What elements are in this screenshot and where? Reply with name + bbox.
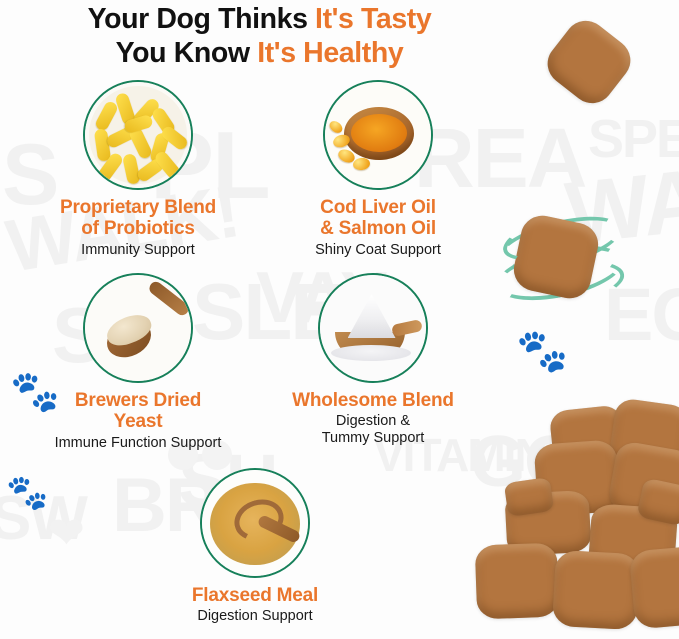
headline-line-2-black: You Know (116, 37, 258, 69)
wooden-spoon-yeast-icon (85, 275, 191, 381)
feature-title: Brewers Dried Yeast (22, 390, 254, 433)
feature-title-line-2: Yeast (22, 411, 254, 432)
feature-title: Wholesome Blend (257, 390, 489, 411)
feature-subtitle: Digestion Support (139, 608, 371, 625)
feature-title: Proprietary Blend of Probiotics (22, 197, 254, 240)
feature-icon-circle (200, 468, 310, 578)
feature-item-flaxseed-meal[interactable]: Flaxseed Meal Digestion Support (139, 468, 371, 625)
feature-title-line-2: & Salmon Oil (262, 218, 494, 239)
feature-title-line-1: Proprietary Blend (22, 197, 254, 218)
feature-item-probiotics[interactable]: Proprietary Blend of Probiotics Immunity… (22, 80, 254, 259)
product-infographic: S WALK! PL REA SPE WAL SLE VAY EG SIT SH… (0, 0, 679, 639)
feature-title-line-1: Brewers Dried (22, 390, 254, 411)
feature-item-fish-oil[interactable]: Cod Liver Oil & Salmon Oil Shiny Coat Su… (262, 80, 494, 259)
feature-item-brewers-yeast[interactable]: Brewers Dried Yeast Immune Function Supp… (22, 273, 254, 452)
feature-subtitle: Shiny Coat Support (262, 242, 494, 259)
feature-title: Flaxseed Meal (139, 585, 371, 606)
headline-line-1-accent: It's Tasty (315, 3, 431, 35)
feature-icon-circle (318, 273, 428, 383)
headline-line-2-accent: It's Healthy (257, 37, 403, 69)
feature-icon-circle (83, 80, 193, 190)
feature-subtitle: Immune Function Support (22, 435, 254, 452)
feature-list: Proprietary Blend of Probiotics Immunity… (0, 0, 679, 639)
flaxseed-meal-spoon-icon (202, 470, 308, 576)
feature-title-line-1: Cod Liver Oil (262, 197, 494, 218)
feature-subtitle: Immunity Support (22, 242, 254, 259)
fish-oil-capsules-bowl-icon (325, 82, 431, 188)
feature-title-line-1: Wholesome Blend (257, 390, 489, 411)
feature-title-line-1: Flaxseed Meal (139, 585, 371, 606)
headline-line-1-black: Your Dog Thinks (88, 3, 315, 35)
headline-line-2: You Know It's Healthy (0, 36, 519, 70)
wooden-spoon-white-powder-icon (320, 275, 426, 381)
headline: Your Dog Thinks It's Tasty You Know It's… (0, 2, 519, 71)
feature-subtitle: Digestion & Tummy Support (257, 413, 489, 447)
feature-title: Cod Liver Oil & Salmon Oil (262, 197, 494, 240)
headline-line-1: Your Dog Thinks It's Tasty (0, 2, 519, 36)
feature-item-wholesome-blend[interactable]: Wholesome Blend Digestion & Tummy Suppor… (257, 273, 489, 447)
feature-icon-circle (323, 80, 433, 190)
probiotic-capsules-icon (85, 82, 191, 188)
feature-subtitle-line-2: Tummy Support (257, 430, 489, 447)
feature-icon-circle (83, 273, 193, 383)
feature-title-line-2: of Probiotics (22, 218, 254, 239)
feature-subtitle-line-1: Digestion & (257, 413, 489, 430)
